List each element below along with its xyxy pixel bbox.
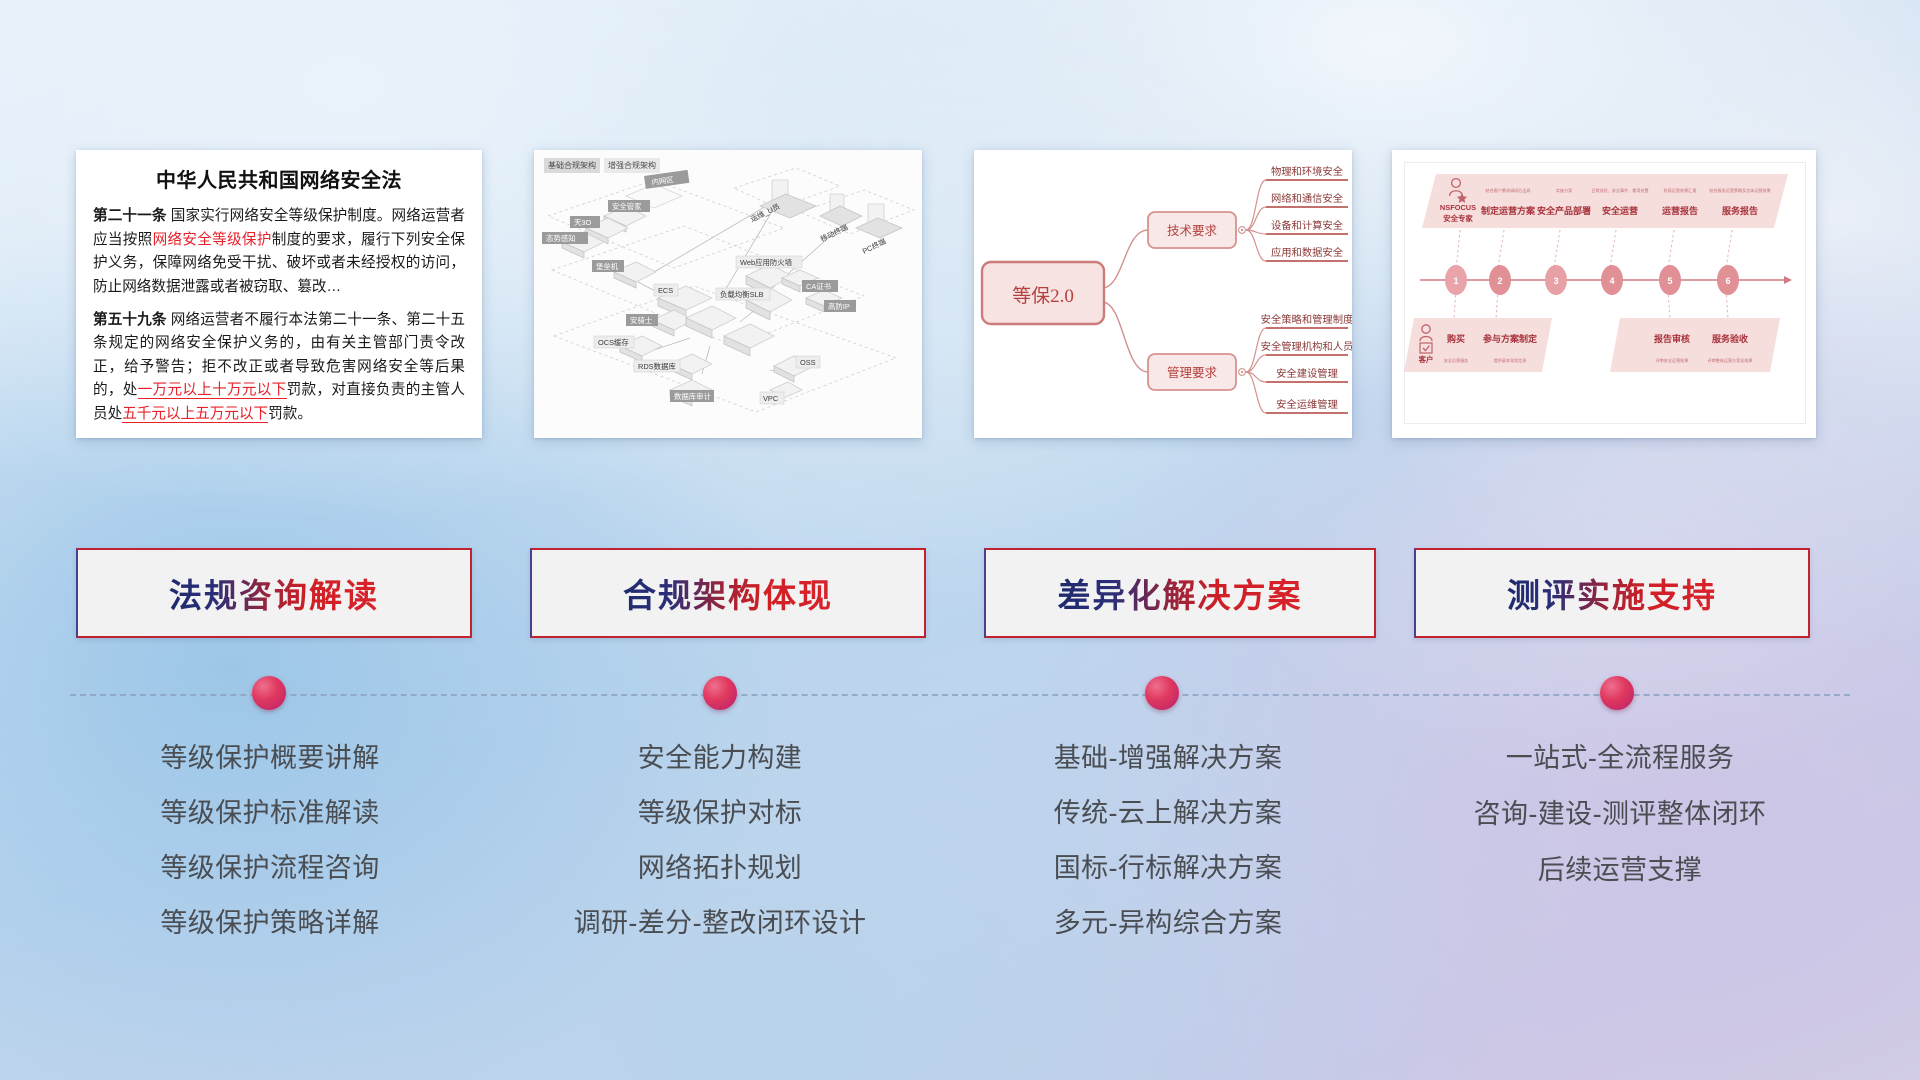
nsfocus-top-step-1-label: 安全产品部署 bbox=[1537, 205, 1591, 216]
banner-label-3: 测评实施支持 bbox=[1507, 569, 1717, 617]
list-item: 后续运营支撑 bbox=[1390, 850, 1850, 892]
nsfocus-top-step-0-sub: 结合客户需求调研后出具 bbox=[1485, 187, 1530, 193]
law-title: 中华人民共和国网络安全法 bbox=[93, 164, 465, 193]
arch-label-rds: RDS数据库 bbox=[638, 362, 676, 371]
card-nsfocus-timeline[interactable]: NSFOCUS 安全专家 客户 结合客户需求调研后出具 制定运营方案 实施方案 … bbox=[1392, 150, 1816, 438]
mindmap-branch-1-label: 管理要求 bbox=[1167, 365, 1218, 380]
law-article-59-text-c: 罚款。 bbox=[268, 406, 312, 422]
nsfocus-bottom-step-1-label: 参与方案制定 bbox=[1483, 333, 1538, 344]
law-article-59-highlight-2: 五千元以上五万元以下 bbox=[122, 406, 268, 423]
timeline-number-1: 1 bbox=[1453, 276, 1458, 286]
banner-row: 法规咨询解读 合规架构体现 差异化解决方案 测评实施支持 bbox=[0, 548, 1920, 640]
nsfocus-bottom-step-0-label: 购买 bbox=[1447, 333, 1465, 344]
card-architecture-diagram[interactable]: 基础合规架构 增强合规架构 bbox=[534, 150, 922, 438]
card-mindmap-dengbao[interactable]: 等保2.0 技术要求 物理和环境安全 网络和通信安全 bbox=[974, 150, 1352, 438]
banner-assessment-support[interactable]: 测评实施支持 bbox=[1414, 548, 1810, 638]
nsfocus-bottom-step-0-sub: 安全运营服务 bbox=[1444, 357, 1469, 363]
nsfocus-top-step-1-sub: 实施方案 bbox=[1556, 187, 1572, 193]
mindmap-branch-1-leaf-2: 安全建设管理 bbox=[1276, 367, 1338, 380]
timeline-dashed-line bbox=[70, 694, 1850, 696]
nsfocus-top-step-0-label: 制定运营方案 bbox=[1481, 205, 1536, 216]
nsfocus-svg: NSFOCUS 安全专家 客户 结合客户需求调研后出具 制定运营方案 实施方案 … bbox=[1392, 150, 1816, 438]
process-timeline bbox=[0, 660, 1920, 720]
column-assessment-support: 一站式-全流程服务 咨询-建设-测评整体闭环 后续运营支撑 bbox=[1390, 738, 1850, 906]
mindmap-branch-0-leaf-0: 物理和环境安全 bbox=[1271, 165, 1344, 178]
nsfocus-expert-line1: NSFOCUS bbox=[1440, 203, 1476, 212]
list-item: 调研-差分-整改闭环设计 bbox=[490, 903, 950, 945]
column-differentiated-solution: 基础-增强解决方案 传统-云上解决方案 国标-行标解决方案 多元-异构综合方案 bbox=[938, 738, 1398, 957]
banner-label-0: 法规咨询解读 bbox=[169, 569, 379, 617]
nsfocus-bottom-step-1-sub: 提供基本现状信息 bbox=[1494, 357, 1527, 363]
nsfocus-top-step-4-label: 服务报告 bbox=[1722, 205, 1758, 216]
nsfocus-top-step-4-sub: 结合服务运营策略及总体运营效果 bbox=[1709, 187, 1770, 193]
list-item: 等级保护策略详解 bbox=[40, 903, 500, 945]
timeline-dot-2[interactable] bbox=[703, 676, 737, 710]
cards-row: 中华人民共和国网络安全法 第二十一条 国家实行网络安全等级保护制度。网络运营者应… bbox=[0, 150, 1920, 440]
arch-label-ca-cert: CA证书 bbox=[806, 282, 832, 291]
nsfocus-canvas: NSFOCUS 安全专家 客户 结合客户需求调研后出具 制定运营方案 实施方案 … bbox=[1392, 150, 1816, 438]
nsfocus-top-step-2-sub: 日常巡检、安全事件、需用处置 bbox=[1591, 187, 1648, 193]
mindmap-branch-0-leaf-2: 设备和计算安全 bbox=[1271, 219, 1344, 232]
law-article-59-label: 第五十九条 bbox=[93, 312, 167, 328]
slide-stage: 中华人民共和国网络安全法 第二十一条 国家实行网络安全等级保护制度。网络运营者应… bbox=[0, 0, 1920, 1080]
arch-label-ocs-cache: OCS缓存 bbox=[598, 338, 629, 347]
timeline-number-6: 6 bbox=[1725, 276, 1730, 286]
law-body: 中华人民共和国网络安全法 第二十一条 国家实行网络安全等级保护制度。网络运营者应… bbox=[76, 150, 482, 438]
list-item: 国标-行标解决方案 bbox=[938, 848, 1398, 890]
law-article-21-label: 第二十一条 bbox=[93, 208, 167, 224]
arch-label-db-audit: 数据库审计 bbox=[674, 392, 712, 401]
column-regulation-consulting: 等级保护概要讲解 等级保护标准解读 等级保护流程咨询 等级保护策略详解 bbox=[40, 738, 500, 957]
banner-compliance-architecture[interactable]: 合规架构体现 bbox=[530, 548, 926, 638]
banner-label-1: 合规架构体现 bbox=[623, 569, 833, 617]
arch-label-ecs: ECS bbox=[658, 286, 673, 295]
timeline-number-4: 4 bbox=[1609, 276, 1614, 286]
list-item: 咨询-建设-测评整体闭环 bbox=[1390, 794, 1850, 836]
mindmap-branch-0-label: 技术要求 bbox=[1167, 224, 1218, 238]
banner-differentiated-solution[interactable]: 差异化解决方案 bbox=[984, 548, 1376, 638]
timeline-number-5: 5 bbox=[1667, 276, 1672, 286]
mindmap-branch-0-leaf-1: 网络和通信安全 bbox=[1271, 192, 1344, 205]
banner-label-2: 差异化解决方案 bbox=[1058, 569, 1303, 617]
arch-label-situation-awareness: 态势感知 bbox=[546, 234, 576, 243]
mindmap-branch-1-leaf-3: 安全运维管理 bbox=[1276, 398, 1338, 411]
list-item: 传统-云上解决方案 bbox=[938, 793, 1398, 835]
list-item: 等级保护标准解读 bbox=[40, 793, 500, 835]
arch-label-pc-terminal: PC终端 bbox=[861, 236, 888, 255]
list-item: 网络拓扑规划 bbox=[490, 848, 950, 890]
mindmap-svg: 等保2.0 技术要求 物理和环境安全 网络和通信安全 bbox=[974, 150, 1352, 438]
arch-label-waf: Web应用防火墙 bbox=[740, 258, 793, 267]
arch-label-anqishi: 安骑士 bbox=[630, 316, 653, 325]
list-item: 等级保护对标 bbox=[490, 793, 950, 835]
nsfocus-bottom-step-2-label: 报告审核 bbox=[1654, 333, 1690, 344]
nsfocus-top-step-3-label: 运营报告 bbox=[1662, 205, 1698, 216]
column-compliance-architecture: 安全能力构建 等级保护对标 网络拓扑规划 调研-差分-整改闭环设计 bbox=[490, 738, 950, 957]
list-item: 基础-增强解决方案 bbox=[938, 738, 1398, 780]
architecture-svg: 内网区 安全管家 天3O 态势感知 堡垒机 ECS 安骑士 OCS缓存 RDS数… bbox=[534, 150, 922, 438]
law-article-21: 第二十一条 国家实行网络安全等级保护制度。网络运营者应当按照网络安全等级保护制度… bbox=[93, 205, 465, 300]
law-article-59-highlight-1: 一万元以上十万元以下 bbox=[138, 382, 287, 399]
arch-label-vpc: VPC bbox=[763, 394, 779, 403]
mindmap-branch-1-leaf-0: 安全策略和管理制度 bbox=[1261, 313, 1352, 326]
law-article-21-highlight: 网络安全等级保护 bbox=[153, 232, 272, 248]
card-cybersecurity-law[interactable]: 中华人民共和国网络安全法 第二十一条 国家实行网络安全等级保护制度。网络运营者应… bbox=[76, 150, 482, 438]
list-item: 安全能力构建 bbox=[490, 738, 950, 780]
arch-label-anti-ddos-ip: 高防IP bbox=[828, 302, 850, 311]
banner-regulation-consulting[interactable]: 法规咨询解读 bbox=[76, 548, 472, 638]
arch-label-mobile-terminal: 移动终端 bbox=[819, 222, 850, 243]
mindmap-root-label: 等保2.0 bbox=[1012, 285, 1074, 307]
nsfocus-bottom-step-2-sub: 评审安全运营效果 bbox=[1656, 357, 1689, 363]
nsfocus-expert-line2: 安全专家 bbox=[1443, 214, 1473, 223]
mindmap-branch-1-leaf-1: 安全管理机构和人员 bbox=[1261, 340, 1352, 353]
list-item: 一站式-全流程服务 bbox=[1390, 738, 1850, 780]
timeline-number-2: 2 bbox=[1497, 276, 1502, 286]
mindmap-branch-0-leaf-3: 应用和数据安全 bbox=[1271, 246, 1344, 259]
arch-label-slb: 负载均衡SLB bbox=[720, 290, 764, 299]
nsfocus-bottom-step-3-label: 服务验收 bbox=[1712, 333, 1748, 344]
timeline-dot-3[interactable] bbox=[1145, 676, 1179, 710]
mindmap-canvas: 等保2.0 技术要求 物理和环境安全 网络和通信安全 bbox=[974, 150, 1352, 438]
list-item: 等级保护流程咨询 bbox=[40, 848, 500, 890]
architecture-canvas: 基础合规架构 增强合规架构 bbox=[534, 150, 922, 438]
nsfocus-bottom-step-3-sub: 评审整体运营方案化效果 bbox=[1707, 357, 1752, 363]
nsfocus-top-step-2-label: 安全运营 bbox=[1602, 205, 1638, 216]
nsfocus-top-step-3-sub: 阶段运营效果汇报 bbox=[1664, 187, 1697, 193]
arch-label-bastion-host: 堡垒机 bbox=[596, 262, 619, 271]
list-item: 多元-异构综合方案 bbox=[938, 903, 1398, 945]
arch-label-oss: OSS bbox=[800, 358, 816, 367]
arch-label-security-butler: 安全管家 bbox=[612, 202, 642, 211]
law-article-59: 第五十九条 网络运营者不履行本法第二十一条、第二十五条规定的网络安全保护义务的，… bbox=[93, 309, 465, 427]
detail-columns: 等级保护概要讲解 等级保护标准解读 等级保护流程咨询 等级保护策略详解 安全能力… bbox=[0, 738, 1920, 968]
arch-label-tian3o: 天3O bbox=[574, 218, 592, 227]
list-item: 等级保护概要讲解 bbox=[40, 738, 500, 780]
nsfocus-customer-label: 客户 bbox=[1418, 355, 1434, 364]
timeline-number-3: 3 bbox=[1553, 276, 1558, 286]
timeline-dot-1[interactable] bbox=[252, 676, 286, 710]
timeline-dot-4[interactable] bbox=[1600, 676, 1634, 710]
